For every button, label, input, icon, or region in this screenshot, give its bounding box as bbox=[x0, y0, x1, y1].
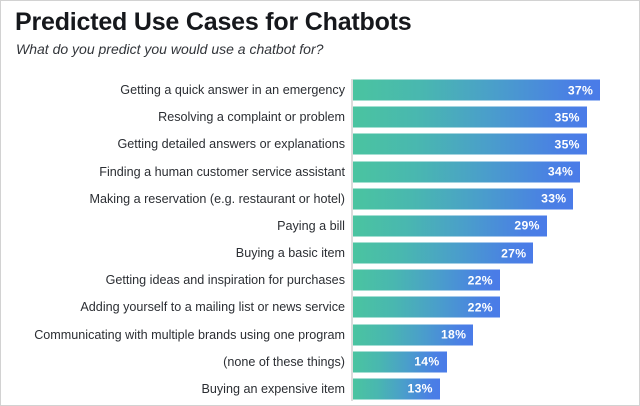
bar-value-label: 22% bbox=[468, 300, 500, 314]
bar-row: Finding a human customer service assista… bbox=[1, 159, 640, 185]
bar-value-label: 14% bbox=[414, 355, 446, 369]
bar: 13% bbox=[353, 378, 440, 399]
chart-card: Predicted Use Cases for Chatbots What do… bbox=[0, 0, 640, 406]
bar-category-label: Adding yourself to a mailing list or new… bbox=[80, 300, 345, 314]
bar-row: Making a reservation (e.g. restaurant or… bbox=[1, 186, 640, 212]
bar-fill: 35% bbox=[353, 107, 587, 128]
bar-row: Communicating with multiple brands using… bbox=[1, 322, 640, 348]
bar: 35% bbox=[353, 134, 587, 155]
plot-area: Getting a quick answer in an emergency37… bbox=[1, 77, 640, 403]
bar-category-label: Paying a bill bbox=[277, 219, 345, 233]
bar-value-label: 35% bbox=[555, 137, 587, 151]
bar-row: Getting ideas and inspiration for purcha… bbox=[1, 267, 640, 293]
bar-category-label: Making a reservation (e.g. restaurant or… bbox=[90, 192, 346, 206]
bar-row: (none of these things)14% bbox=[1, 349, 640, 375]
bar-category-label: (none of these things) bbox=[223, 355, 345, 369]
bar-value-label: 37% bbox=[568, 83, 600, 97]
bar: 14% bbox=[353, 351, 447, 372]
bar-fill: 37% bbox=[353, 80, 600, 101]
bar-value-label: 18% bbox=[441, 328, 473, 342]
bar-fill: 35% bbox=[353, 134, 587, 155]
bar-category-label: Getting detailed answers or explanations bbox=[117, 137, 345, 151]
bar-fill: 14% bbox=[353, 351, 447, 372]
bar-row: Paying a bill29% bbox=[1, 213, 640, 239]
bar: 37% bbox=[353, 80, 600, 101]
bar-row: Buying an expensive item13% bbox=[1, 376, 640, 402]
bar-fill: 18% bbox=[353, 324, 473, 345]
bar-fill: 27% bbox=[353, 243, 533, 264]
bar: 22% bbox=[353, 270, 500, 291]
bar-row: Buying a basic item27% bbox=[1, 240, 640, 266]
bar-category-label: Communicating with multiple brands using… bbox=[34, 328, 345, 342]
bar: 35% bbox=[353, 107, 587, 128]
bar-category-label: Finding a human customer service assista… bbox=[99, 165, 345, 179]
bar-category-label: Buying a basic item bbox=[236, 246, 345, 260]
bar-value-label: 29% bbox=[514, 219, 546, 233]
bar-category-label: Getting a quick answer in an emergency bbox=[120, 83, 345, 97]
bar: 34% bbox=[353, 161, 580, 182]
bar-value-label: 34% bbox=[548, 165, 580, 179]
bar-value-label: 27% bbox=[501, 246, 533, 260]
bar-fill: 22% bbox=[353, 270, 500, 291]
bar-fill: 29% bbox=[353, 215, 547, 236]
bar: 29% bbox=[353, 215, 547, 236]
bar-value-label: 35% bbox=[555, 110, 587, 124]
bar-fill: 34% bbox=[353, 161, 580, 182]
bar-row: Getting a quick answer in an emergency37… bbox=[1, 77, 640, 103]
bar-fill: 13% bbox=[353, 378, 440, 399]
bar: 33% bbox=[353, 188, 573, 209]
chart-subtitle: What do you predict you would use a chat… bbox=[16, 41, 323, 57]
bar: 18% bbox=[353, 324, 473, 345]
bar-fill: 33% bbox=[353, 188, 573, 209]
bar-value-label: 22% bbox=[468, 273, 500, 287]
bar-row: Getting detailed answers or explanations… bbox=[1, 131, 640, 157]
bar-category-label: Resolving a complaint or problem bbox=[158, 110, 345, 124]
bar: 22% bbox=[353, 297, 500, 318]
bar-row: Resolving a complaint or problem35% bbox=[1, 104, 640, 130]
bar-value-label: 13% bbox=[408, 382, 440, 396]
chart-title: Predicted Use Cases for Chatbots bbox=[15, 8, 412, 37]
bar-category-label: Buying an expensive item bbox=[201, 382, 345, 396]
bar-value-label: 33% bbox=[541, 192, 573, 206]
bar-row: Adding yourself to a mailing list or new… bbox=[1, 294, 640, 320]
bar-fill: 22% bbox=[353, 297, 500, 318]
bar-category-label: Getting ideas and inspiration for purcha… bbox=[106, 273, 345, 287]
bar: 27% bbox=[353, 243, 533, 264]
